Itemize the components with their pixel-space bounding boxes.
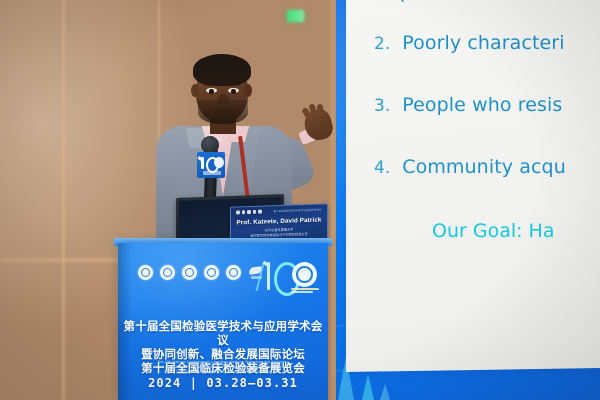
nameplate-logo-icon-2 xyxy=(242,210,246,214)
presenter-pupil-right xyxy=(231,89,236,94)
sponsor-logo-row xyxy=(138,265,265,280)
exit-icon xyxy=(287,10,304,22)
presenter-mouth xyxy=(213,109,233,115)
slide-partial-text: (to redu xyxy=(398,0,464,4)
slide-item-3-text: People who resis xyxy=(402,94,562,116)
microphone-logo-flag xyxy=(197,152,225,178)
backdrop-triangle-2 xyxy=(362,374,374,400)
backdrop-triangle-3 xyxy=(380,384,390,400)
slide-item-3: 3. People who resis xyxy=(374,94,562,116)
mic-flag-caption xyxy=(203,171,221,175)
nameplate-speaker-name: Prof. Kateete, David Patrick xyxy=(231,216,327,226)
nameplate-logo-icon-1 xyxy=(236,211,240,215)
conference-photo-scene: (to redu 2. Poorly characteri 3. People … xyxy=(0,0,600,400)
banner-date: 2024 | 03.28—03.31 xyxy=(118,376,328,390)
anniversary-caption-line-2 xyxy=(291,291,313,293)
slide-item-2: 2. Poorly characteri xyxy=(374,32,565,54)
presenter-nose xyxy=(217,94,229,106)
projection-screen: (to redu 2. Poorly characteri 3. People … xyxy=(346,0,600,372)
anniversary-emblem-icon xyxy=(292,262,317,287)
slide-item-2-number: 2. xyxy=(374,34,390,54)
banner-title-line-1: 第十届全国检验医学技术与应用学术会议 xyxy=(118,319,328,347)
presenter-pupil-left xyxy=(209,89,214,94)
mic-flag-digit-one xyxy=(201,157,204,169)
conference-lectern: 第十届全国检验医学技术与应用学术会议 暨协同创新、融合发展国际论坛 第十届全国临… xyxy=(118,243,328,400)
banner-subtitle-block: The 10th National Conference on Laborato… xyxy=(118,360,328,375)
slide-content: (to redu 2. Poorly characteri 3. People … xyxy=(346,0,600,370)
banner-subtitle-line-3: The 10th National Clinical Laboratory Eq… xyxy=(118,370,328,375)
mic-flag-emblem-icon xyxy=(214,157,224,168)
anniversary-mark xyxy=(259,261,321,294)
nameplate-logo-row xyxy=(236,210,262,214)
sponsor-logo-icon-2 xyxy=(160,265,175,280)
nameplate-header: 第十届全国检验医学技术与应用学术会议 xyxy=(236,207,322,214)
anniversary-caption xyxy=(291,288,319,295)
presenter-ear-left xyxy=(191,84,199,97)
nameplate-logo-icon-3 xyxy=(247,210,251,214)
slide-item-4: 4. Community acqu xyxy=(374,156,566,178)
banner-title-line-2: 暨协同创新、融合发展国际论坛 xyxy=(118,347,328,361)
presenter-ear-right xyxy=(244,84,252,97)
sponsor-logo-icon-3 xyxy=(182,265,197,280)
slide-item-4-number: 4. xyxy=(374,158,390,178)
slide-item-3-number: 3. xyxy=(374,96,390,116)
slide-item-2-text: Poorly characteri xyxy=(402,32,564,54)
slide-partial-top-line: (to redu xyxy=(346,0,600,4)
slide-goal-text: Our Goal: Ha xyxy=(432,220,555,242)
anniversary-caption-line-1 xyxy=(291,288,319,290)
nameplate-logo-icon-4 xyxy=(253,210,257,214)
wall-seam-vertical-1 xyxy=(62,0,65,400)
nameplate-logo-icon-5 xyxy=(258,210,262,214)
presenter-hair xyxy=(193,54,251,86)
nameplate-header-note: 第十届全国检验医学技术与应用学术会议 xyxy=(274,207,323,213)
anniversary-digit-one xyxy=(267,262,270,290)
finger-3 xyxy=(317,104,325,117)
sponsor-logo-icon-1 xyxy=(138,265,153,280)
sponsor-logo-icon-5 xyxy=(226,265,241,280)
slide-item-4-text: Community acqu xyxy=(402,156,566,178)
sponsor-logo-icon-4 xyxy=(204,265,219,280)
